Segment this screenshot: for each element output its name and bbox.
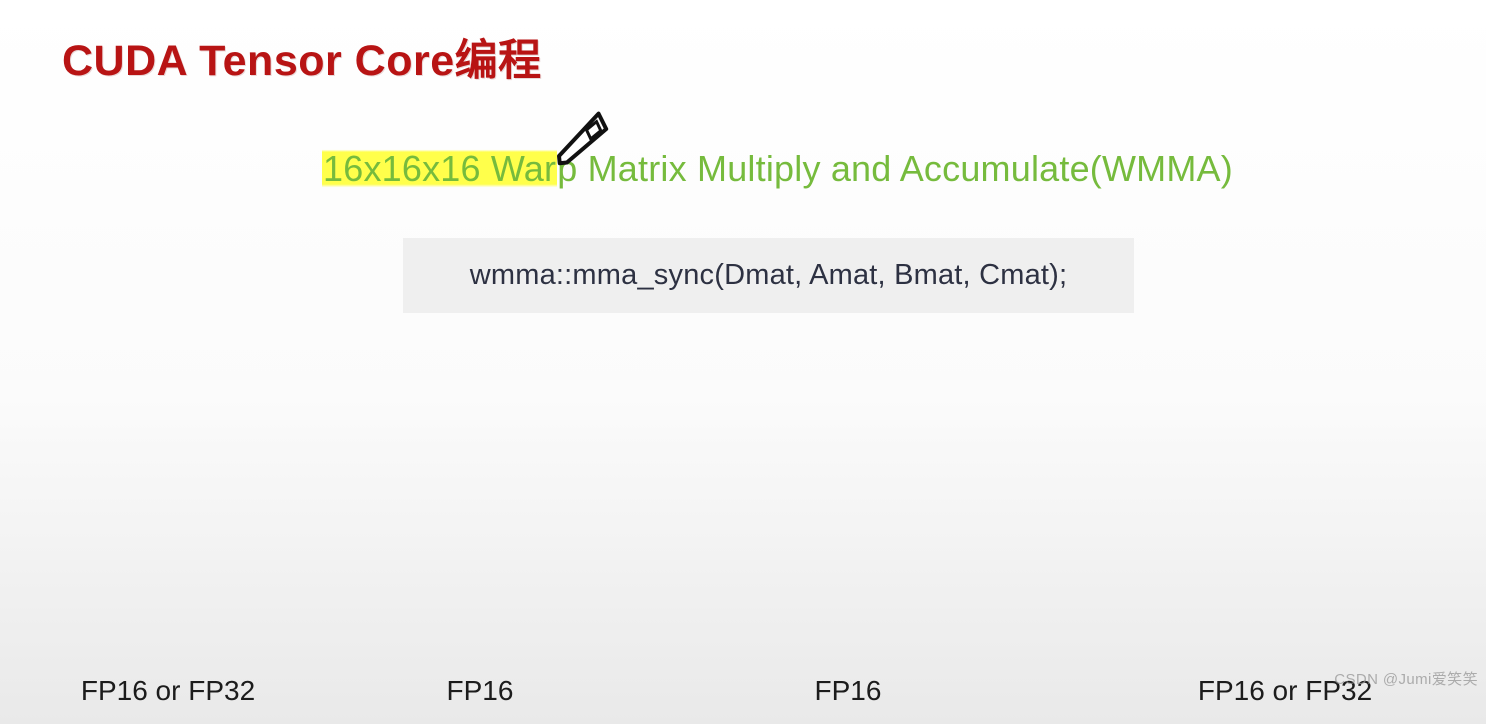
code-box: wmma::mma_sync(Dmat, Amat, Bmat, Cmat); [403,238,1134,313]
equation-row: D= [0,362,1486,692]
page-title: CUDA Tensor Core编程 [62,26,542,88]
headline: 16x16x16 Warp Matrix Multiply and Accumu… [322,148,1233,190]
label-result-precision: FP16 or FP32 [48,675,288,707]
headline-rest-part: p Matrix Multiply and Accumulate(WMMA) [557,148,1233,189]
label-matrix-a-precision: FP16 [360,675,600,707]
code-text: wmma::mma_sync(Dmat, Amat, Bmat, Cmat); [470,259,1068,292]
headline-highlighted-part: 16x16x16 War [322,148,557,189]
label-matrix-b-precision: FP16 [728,675,968,707]
slide-canvas: CUDA Tensor Core编程 16x16x16 Warp Matrix … [0,0,1486,724]
watermark: CSDN @Jumi爱笑笑 [1334,668,1478,689]
